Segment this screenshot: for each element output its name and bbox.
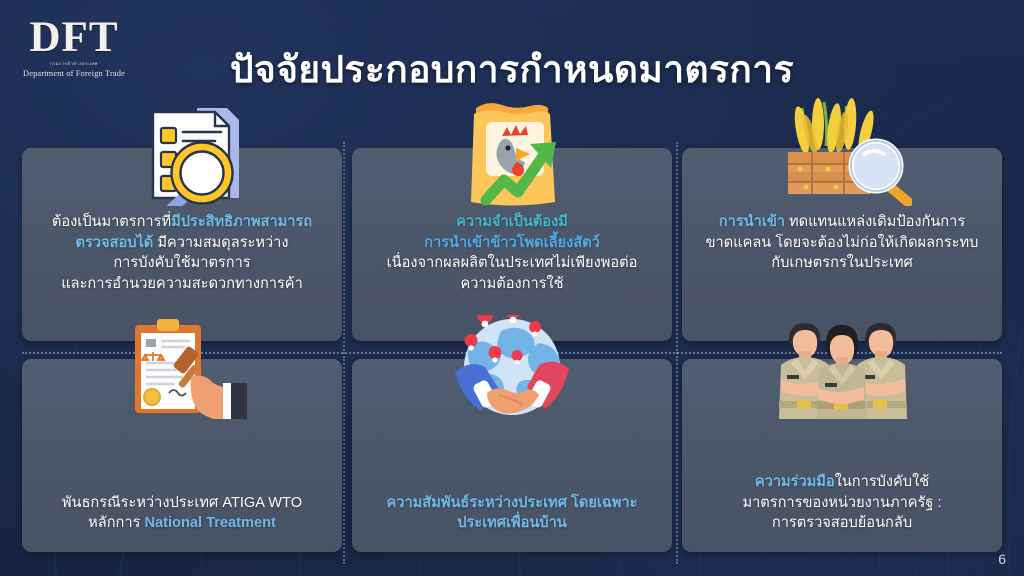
card-text-line: ตรวจสอบได้ มีความสมดุลระหว่าง <box>52 233 312 254</box>
text-run-highlight: การนำเข้า <box>719 214 785 230</box>
card-text-line: ความจำเป็นต้องมี <box>387 212 638 233</box>
card-text-line: ต้องเป็นมาตรการที่มีประสิทธิภาพสามารถ <box>52 212 312 233</box>
card-text-line: ความร่วมมือในการบังคับใช้ <box>742 472 941 493</box>
card-text-line: พันธกรณีระหว่างประเทศ ATIGA WTO <box>62 493 302 514</box>
text-run: ขาดแคลน โดยจะต้องไม่ก่อให้เกิดผลกระทบ <box>706 235 979 251</box>
text-run: การตรวจสอบย้อนกลับ <box>772 515 912 531</box>
text-run-highlight: การนำเข้าข้าวโพดเลี้ยงสัตว์ <box>424 235 600 251</box>
factor-card-feed-corn-import-need[interactable]: ความจำเป็นต้องมีการนำเข้าข้าวโพดเลี้ยงสั… <box>352 148 672 341</box>
card-text-card-international-relations: ความสัมพันธ์ระหว่างประเทศ โดยเฉพาะประเทศ… <box>387 493 638 534</box>
card-text-line: หลักการ National Treatment <box>62 513 302 534</box>
factor-card-efficiency-verifiable[interactable]: ต้องเป็นมาตรการที่มีประสิทธิภาพสามารถตรว… <box>22 148 342 341</box>
card-text-line: และการอำนวยความสะดวกทางการค้า <box>52 274 312 295</box>
text-run-highlight: National Treatment <box>144 515 275 531</box>
page-number: 6 <box>998 551 1006 567</box>
card-text-line: กับเกษตรกรในประเทศ <box>706 253 979 274</box>
card-text-card-efficiency-verifiable: ต้องเป็นมาตรการที่มีประสิทธิภาพสามารถตรว… <box>52 212 312 295</box>
text-run: ในการบังคับใช้ <box>835 474 929 490</box>
card-text-card-international-obligations: พันธกรณีระหว่างประเทศ ATIGA WTOหลักการ N… <box>62 493 302 534</box>
card-text-line: ความสัมพันธ์ระหว่างประเทศ โดยเฉพาะ <box>387 493 638 514</box>
card-text-line: ขาดแคลน โดยจะต้องไม่ก่อให้เกิดผลกระทบ <box>706 233 979 254</box>
text-run: กับเกษตรกรในประเทศ <box>771 255 912 271</box>
text-run: การบังคับใช้มาตรการ <box>113 255 250 271</box>
text-run-highlight: ตรวจสอบได้ <box>75 235 153 251</box>
factor-card-grid: ต้องเป็นมาตรการที่มีประสิทธิภาพสามารถตรว… <box>22 148 1002 552</box>
factor-card-agency-cooperation[interactable]: ความร่วมมือในการบังคับใช้มาตรการของหน่วย… <box>682 359 1002 552</box>
slide-root: DFT กรมการค้าต่างประเทศ Department of Fo… <box>0 0 1024 576</box>
text-run: ความต้องการใช้ <box>460 276 563 292</box>
text-run-highlight: ความสัมพันธ์ระหว่างประเทศ โดยเฉพาะ <box>387 495 638 511</box>
card-text-line: การนำเข้าข้าวโพดเลี้ยงสัตว์ <box>387 233 638 254</box>
text-run: และการอำนวยความสะดวกทางการค้า <box>61 276 303 292</box>
card-text-card-agency-cooperation: ความร่วมมือในการบังคับใช้มาตรการของหน่วย… <box>742 472 941 534</box>
text-run-highlight: ความร่วมมือ <box>755 474 835 490</box>
card-text-line: มาตรการของหน่วยงานภาครัฐ : <box>742 493 941 514</box>
text-run: ต้องเป็นมาตรการที่ <box>52 214 171 230</box>
card-text-line: การบังคับใช้มาตรการ <box>52 253 312 274</box>
text-run: หลักการ <box>88 515 144 531</box>
text-run: เนื่องจากผลผลิตในประเทศไม่เพียงพอต่อ <box>387 255 638 271</box>
text-run-highlight: ความจำเป็นต้องมี <box>456 214 568 230</box>
card-text-line: การตรวจสอบย้อนกลับ <box>742 513 941 534</box>
text-run: ทดแทนแหล่งเดิมป้องกันการ <box>785 214 965 230</box>
card-text-card-import-substitute-source: การนำเข้า ทดแทนแหล่งเดิมป้องกันการขาดแคล… <box>706 212 979 274</box>
factor-card-international-relations[interactable]: ความสัมพันธ์ระหว่างประเทศ โดยเฉพาะประเทศ… <box>352 359 672 552</box>
text-run: มีความสมดุลระหว่าง <box>153 235 288 251</box>
factor-card-import-substitute-source[interactable]: การนำเข้า ทดแทนแหล่งเดิมป้องกันการขาดแคล… <box>682 148 1002 341</box>
card-text-line: ประเทศเพื่อนบ้าน <box>387 513 638 534</box>
card-text-line: เนื่องจากผลผลิตในประเทศไม่เพียงพอต่อ <box>387 253 638 274</box>
text-run-highlight: ประเทศเพื่อนบ้าน <box>457 515 567 531</box>
text-run: มาตรการของหน่วยงานภาครัฐ : <box>742 495 941 511</box>
page-title: ปัจจัยประกอบการกำหนดมาตรการ <box>0 40 1024 99</box>
factor-card-international-obligations[interactable]: พันธกรณีระหว่างประเทศ ATIGA WTOหลักการ N… <box>22 359 342 552</box>
card-text-line: การนำเข้า ทดแทนแหล่งเดิมป้องกันการ <box>706 212 979 233</box>
card-text-card-feed-corn-import-need: ความจำเป็นต้องมีการนำเข้าข้าวโพดเลี้ยงสั… <box>387 212 638 295</box>
text-run-highlight: มีประสิทธิภาพสามารถ <box>171 214 312 230</box>
text-run: พันธกรณีระหว่างประเทศ ATIGA WTO <box>62 495 302 511</box>
card-text-line: ความต้องการใช้ <box>387 274 638 295</box>
